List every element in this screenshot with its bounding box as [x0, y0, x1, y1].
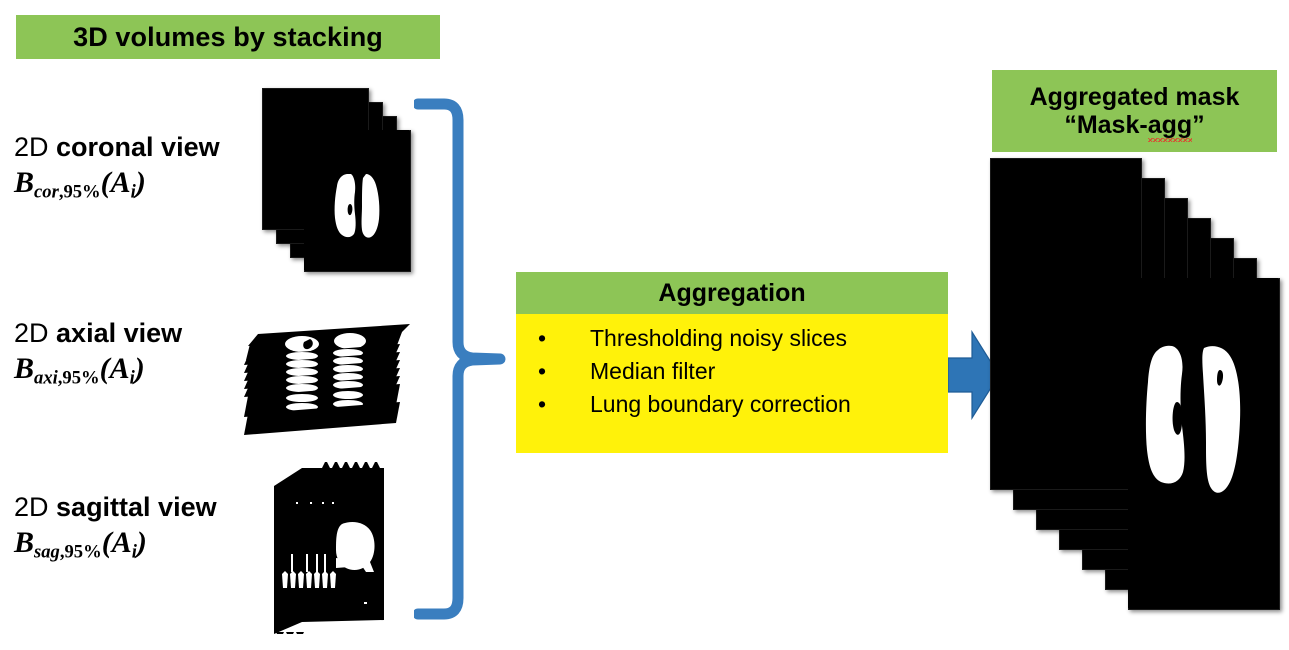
sagittal-stack-shape	[266, 462, 396, 634]
view-label-coronal-text: 2D coronal view	[14, 132, 220, 164]
view-label-sagittal: 2D sagittal view Bsag,95%(Ai)	[14, 492, 217, 563]
title-banner-3d-volumes: 3D volumes by stacking	[16, 15, 440, 59]
aggregation-step-label: Median filter	[590, 355, 715, 388]
aggregation-step-list: • Thresholding noisy slices • Median fil…	[516, 314, 948, 421]
aggregation-step-item: • Lung boundary correction	[516, 388, 948, 421]
formula-axial-arg-close: )	[135, 352, 145, 385]
mask-agg-open-quote: “Mask-	[1064, 111, 1147, 139]
view-label-axial-prefix: 2D	[14, 318, 56, 348]
mask-agg-misspelled-word: agg	[1148, 111, 1192, 139]
coronal-slice-stack-icon	[262, 88, 412, 274]
formula-coronal-sub-view: cor	[34, 181, 59, 202]
view-label-axial-text: 2D axial view	[14, 318, 182, 350]
view-label-coronal-prefix: 2D	[14, 132, 56, 162]
aggregated-lung-mask-shape	[1128, 278, 1278, 608]
aggregation-header: Aggregation	[516, 272, 948, 314]
formula-coronal-arg-open: (A	[101, 166, 131, 199]
view-label-axial-name: axial view	[56, 318, 182, 348]
right-curly-brace	[414, 98, 506, 620]
view-label-coronal: 2D coronal view Bcor,95%(Ai)	[14, 132, 220, 203]
aggregation-step-label: Lung boundary correction	[590, 388, 851, 421]
aggregated-mask-volume-stack-icon	[988, 158, 1286, 648]
bullet-icon: •	[538, 355, 546, 388]
view-label-sagittal-text: 2D sagittal view	[14, 492, 217, 524]
formula-sagittal-base: B	[14, 526, 34, 559]
formula-coronal-arg-close: )	[136, 166, 146, 199]
coronal-lung-mask-shape	[304, 130, 409, 270]
aggregation-step-item: • Median filter	[516, 355, 948, 388]
bullet-icon: •	[538, 388, 546, 421]
formula-axial-arg-open: (A	[100, 352, 130, 385]
formula-coronal-sub-pct: ,95%	[59, 181, 101, 202]
formula-sagittal-sub-pct: ,95%	[60, 541, 102, 562]
curly-brace-icon	[414, 98, 506, 620]
formula-sagittal-sub-view: sag	[34, 541, 60, 562]
aggregation-step-item: • Thresholding noisy slices	[516, 322, 948, 355]
aggregation-body: • Thresholding noisy slices • Median fil…	[516, 314, 948, 453]
formula-axial-sub-pct: ,95%	[58, 367, 100, 388]
aggregated-mask-header-line1: Aggregated mask	[1030, 83, 1240, 111]
view-label-sagittal-name: sagittal view	[56, 492, 217, 522]
view-label-axial: 2D axial view Baxi,95%(Ai)	[14, 318, 182, 389]
sagittal-slice-stack-icon	[266, 462, 396, 634]
formula-coronal: Bcor,95%(Ai)	[14, 165, 220, 204]
view-label-coronal-name: coronal view	[56, 132, 220, 162]
axial-slice-stack-icon	[240, 322, 415, 440]
aggregation-header-label: Aggregation	[658, 279, 805, 307]
view-label-sagittal-prefix: 2D	[14, 492, 56, 522]
formula-sagittal-arg-close: )	[137, 526, 147, 559]
bullet-icon: •	[538, 322, 546, 355]
formula-coronal-base: B	[14, 166, 34, 199]
title-banner-label: 3D volumes by stacking	[73, 22, 383, 52]
aggregated-mask-header-line2: “Mask-agg”	[1064, 111, 1204, 139]
axial-stack-shape	[240, 322, 415, 440]
formula-axial-sub-view: axi	[34, 367, 58, 388]
aggregation-step-label: Thresholding noisy slices	[590, 322, 847, 355]
aggregated-mask-header: Aggregated mask “Mask-agg”	[992, 70, 1277, 152]
formula-sagittal-arg-open: (A	[102, 526, 132, 559]
formula-axial-base: B	[14, 352, 34, 385]
mask-agg-close-quote: ”	[1192, 111, 1205, 139]
formula-axial: Baxi,95%(Ai)	[14, 351, 182, 390]
formula-sagittal: Bsag,95%(Ai)	[14, 525, 217, 564]
